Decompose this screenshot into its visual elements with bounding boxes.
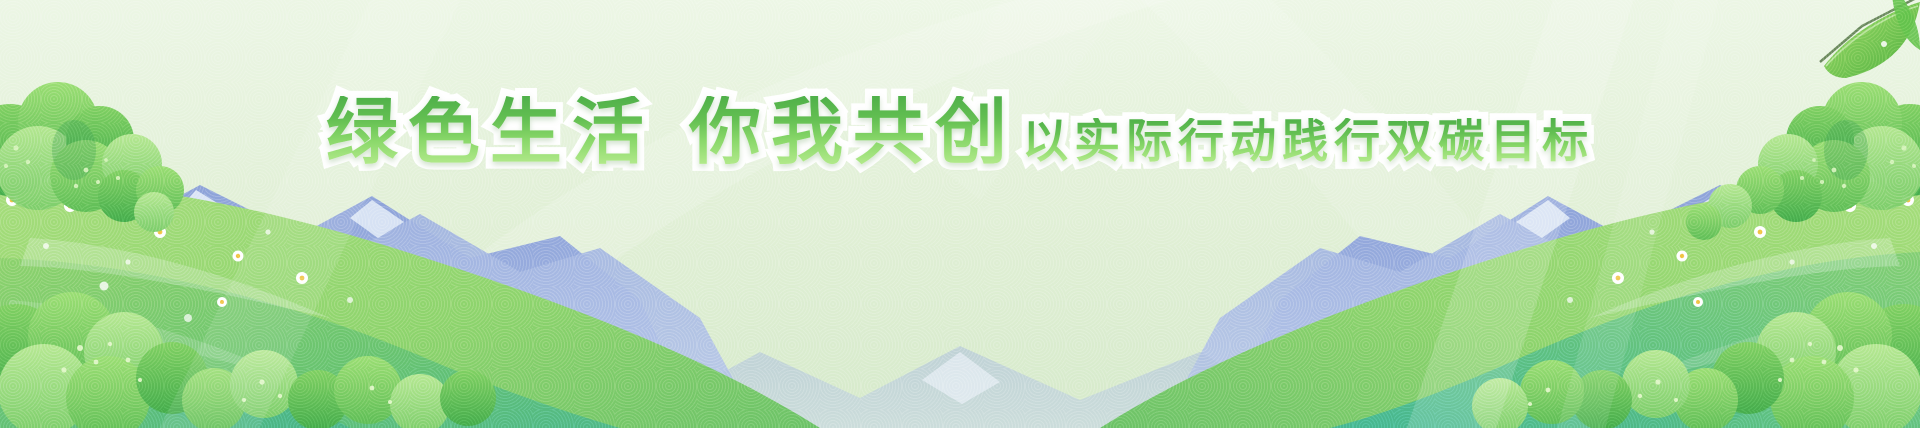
banner-text-block: 绿色生活 你我共创 绿色生活 你我共创 以实际行动践行双碳目标 以实际行动践行双…: [0, 96, 1920, 180]
headline-wrap: 绿色生活 你我共创 绿色生活 你我共创: [326, 96, 1017, 180]
subtitle-wrap: 以实际行动践行双碳目标 以实际行动践行双碳目标: [1022, 118, 1594, 164]
page-subtitle: 以实际行动践行双碳目标: [1022, 118, 1594, 164]
eco-banner: 绿色生活 你我共创 绿色生活 你我共创 以实际行动践行双碳目标 以实际行动践行双…: [0, 0, 1920, 428]
leaf-icon: [1820, 0, 1920, 78]
leaf-sprig-corner: [0, 0, 1920, 428]
page-title: 绿色生活 你我共创: [326, 96, 1017, 168]
